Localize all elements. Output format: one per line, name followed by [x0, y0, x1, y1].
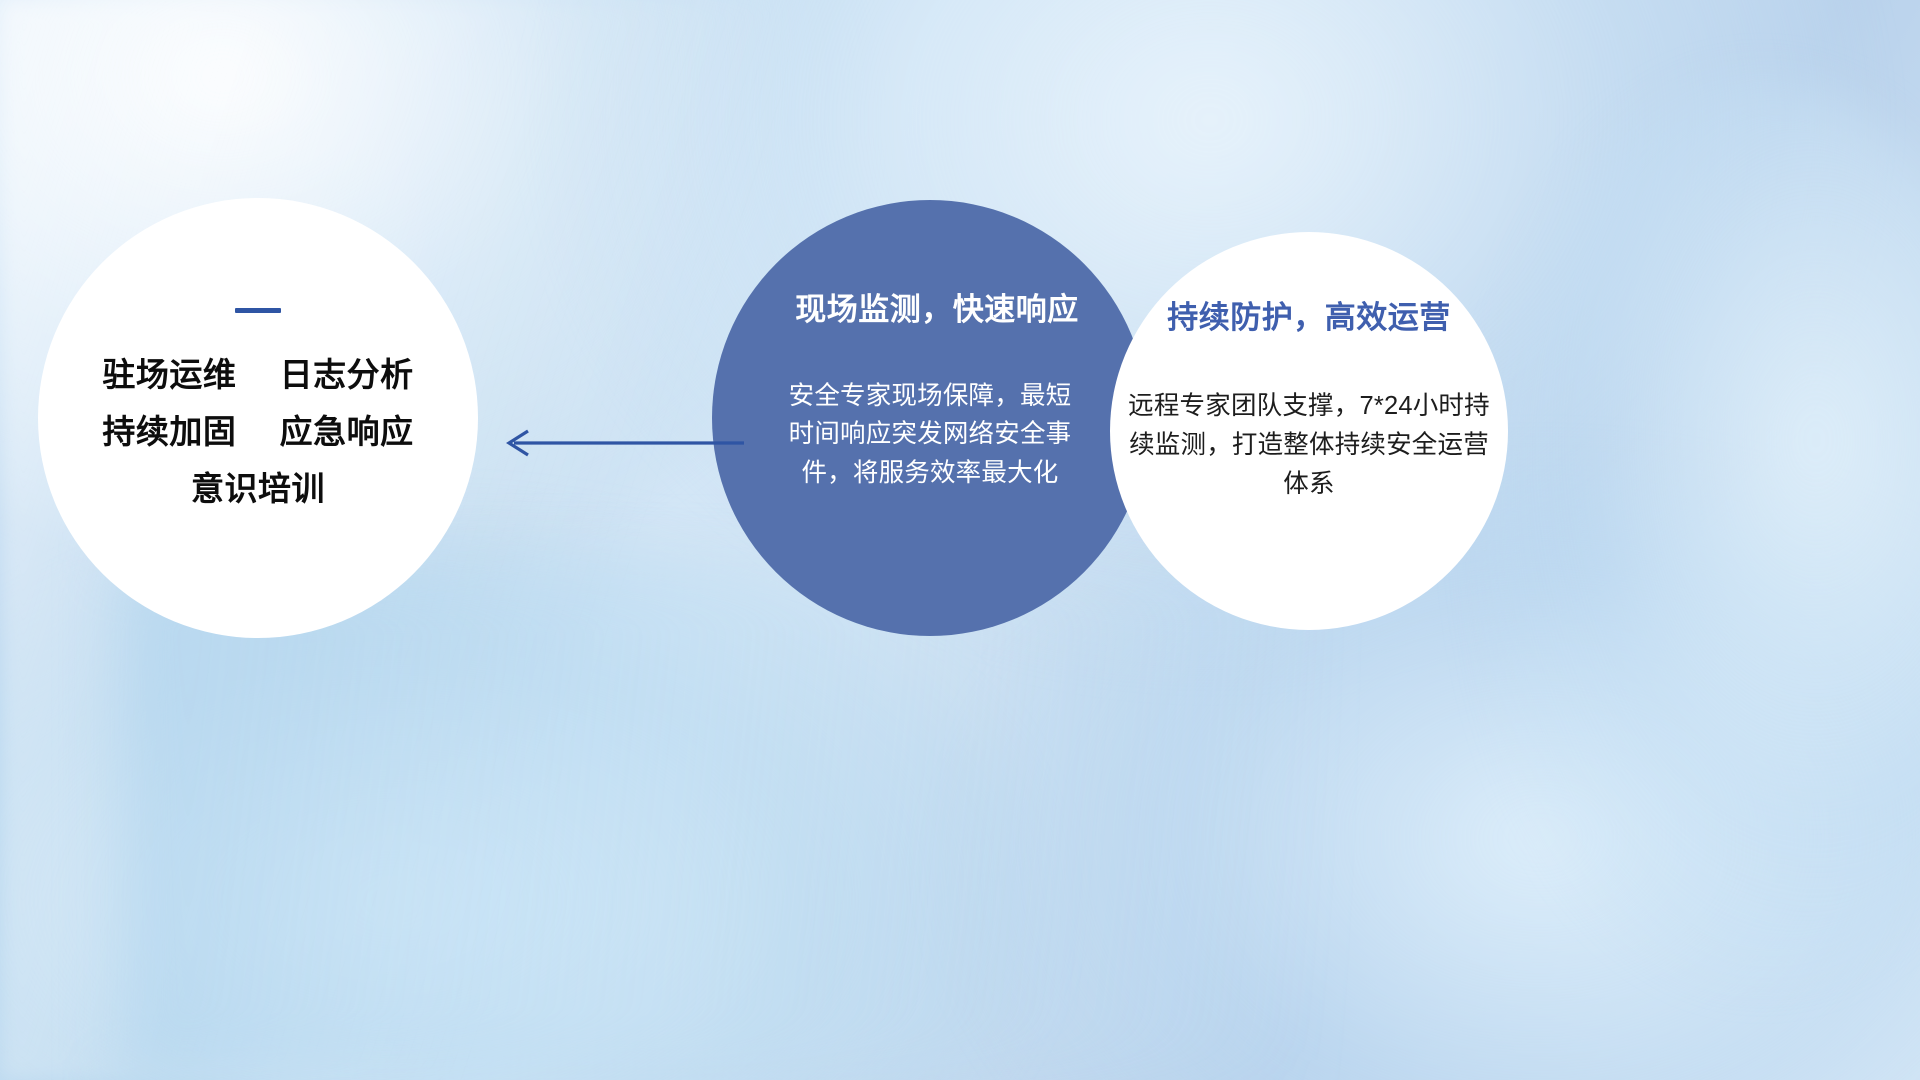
- capability-row-3: 意识培训: [191, 470, 325, 508]
- capability-row-1: 驻场运维 日志分析: [102, 356, 413, 394]
- right-operations-circle: 持续防护，高效运营 远程专家团队支撑，7*24小时持续监测，打造整体持续安全运营…: [1110, 232, 1508, 630]
- capability-list: 驻场运维 日志分析 持续加固 应急响应 意识培训: [102, 356, 413, 508]
- right-circle-body: 远程专家团队支撑，7*24小时持续监测，打造整体持续安全运营体系: [1125, 387, 1493, 503]
- left-circle-content: 驻场运维 日志分析 持续加固 应急响应 意识培训: [38, 198, 478, 638]
- capability-item-4: 应急响应: [280, 413, 414, 450]
- background-glow-far-right: [1480, 80, 1920, 980]
- right-circle-heading: 持续防护，高效运营: [1167, 292, 1451, 337]
- divider-dash-icon: [235, 308, 281, 313]
- right-circle-content: 持续防护，高效运营 远程专家团队支撑，7*24小时持续监测，打造整体持续安全运营…: [1110, 232, 1508, 630]
- center-onsite-circle: 现场监测，快速响应 安全专家现场保障，最短时间响应突发网络安全事件，将服务效率最…: [712, 200, 1148, 636]
- capability-item-1: 驻场运维: [102, 356, 236, 393]
- center-circle-body: 安全专家现场保障，最短时间响应突发网络安全事件，将服务效率最大化: [785, 377, 1075, 492]
- capability-item-2: 日志分析: [280, 356, 414, 393]
- capability-item-5: 意识培训: [191, 470, 325, 507]
- flow-arrow-icon: [486, 420, 746, 466]
- left-capability-circle: 驻场运维 日志分析 持续加固 应急响应 意识培训: [38, 198, 478, 638]
- center-circle-content: 现场监测，快速响应 安全专家现场保障，最短时间响应突发网络安全事件，将服务效率最…: [712, 200, 1148, 636]
- capability-item-3: 持续加固: [102, 413, 236, 450]
- background-light-band-bottom: [120, 560, 1320, 1080]
- capability-row-2: 持续加固 应急响应: [102, 413, 413, 451]
- slide-canvas: 驻场运维 日志分析 持续加固 应急响应 意识培训 现场监测，快速响应 安全专家现…: [0, 0, 1920, 1080]
- center-circle-heading: 现场监测，快速响应: [795, 284, 1079, 329]
